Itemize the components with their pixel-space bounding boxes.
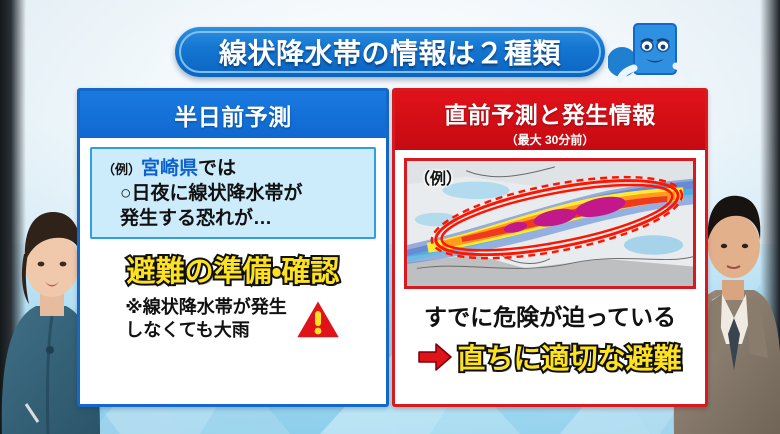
- note-line-1: ※線状降水帯が発生: [125, 296, 287, 319]
- quote-line-1: （例）宮崎県では: [102, 156, 366, 181]
- note-line-2: しなくても大雨: [125, 319, 287, 342]
- red-right-arrow-icon: [418, 342, 452, 372]
- left-panel-header: 半日前予測: [80, 91, 386, 138]
- right-panel-action-row: 直ちに適切な避難: [404, 337, 696, 377]
- note-text: ※線状降水帯が発生 しなくても大雨: [125, 296, 287, 343]
- panel-half-day-forecast: 半日前予測 （例）宮崎県では ○日夜に線状降水帯が 発生する恐れが… 避難の準備…: [77, 88, 389, 407]
- left-panel-note: ※線状降水帯が発生 しなくても大雨: [90, 296, 376, 343]
- example-quote-box: （例）宮崎県では ○日夜に線状降水帯が 発生する恐れが…: [90, 147, 376, 239]
- right-panel-statement: すでに危険が迫っている: [404, 298, 696, 332]
- left-panel-title: 半日前予測: [174, 98, 292, 132]
- radar-example-label: （例）: [414, 165, 462, 189]
- quote-line-3: 発生する恐れが…: [102, 206, 366, 231]
- example-prefix: （例）: [102, 162, 141, 177]
- blue-character-mascot: [608, 18, 704, 88]
- quote-line-2: ○日夜に線状降水帯が: [102, 181, 366, 206]
- right-panel-subtitle: （最大 30分前）: [506, 131, 595, 148]
- right-panel-action-highlight: 直ちに適切な避難: [457, 337, 681, 377]
- left-panel-action-highlight: 避難の準備・確認: [90, 248, 376, 290]
- weather-radar-image: （例）: [404, 158, 696, 289]
- broadcast-screen: 線状降水帯の情報は２種類 半日前予測 （例）宮崎県では ○日夜に線状降水帯が 発…: [0, 0, 780, 434]
- quote-line-1-tail: では: [198, 158, 236, 179]
- warning-triangle-icon: [295, 298, 341, 340]
- right-panel-header: 直前予測と発生情報 （最大 30分前）: [395, 91, 705, 150]
- prefecture-name: 宮崎県: [141, 158, 198, 179]
- page-title: 線状降水帯の情報は２種類: [219, 32, 561, 72]
- panel-imminent-forecast: 直前予測と発生情報 （最大 30分前） （例）: [392, 88, 708, 407]
- headline-banner: 線状降水帯の情報は２種類: [175, 27, 605, 77]
- right-panel-title: 直前予測と発生情報: [444, 96, 656, 130]
